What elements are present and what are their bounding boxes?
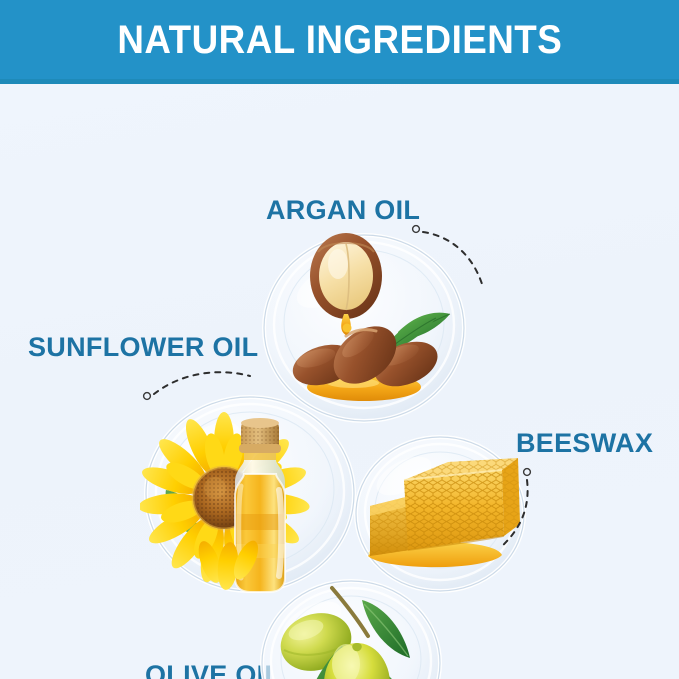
ingredient-label-beeswax: BEESWAX [516, 430, 653, 457]
dashed-connector-sunflower [140, 362, 255, 412]
natural-ingredients-poster: NATURAL INGREDIENTS [0, 0, 679, 679]
page-title: NATURAL INGREDIENTS [117, 20, 562, 60]
ingredient-label-sunflower-oil: SUNFLOWER OIL [28, 334, 258, 361]
header-banner: NATURAL INGREDIENTS [0, 0, 679, 79]
ingredients-stage: ARGAN OIL [0, 84, 679, 679]
petri-dish-olive [258, 572, 444, 679]
petri-dish-sunflower [140, 386, 360, 594]
dashed-connector-argan [410, 222, 500, 292]
dashed-connector-beeswax [492, 464, 552, 554]
ingredient-label-argan-oil: ARGAN OIL [266, 197, 420, 224]
